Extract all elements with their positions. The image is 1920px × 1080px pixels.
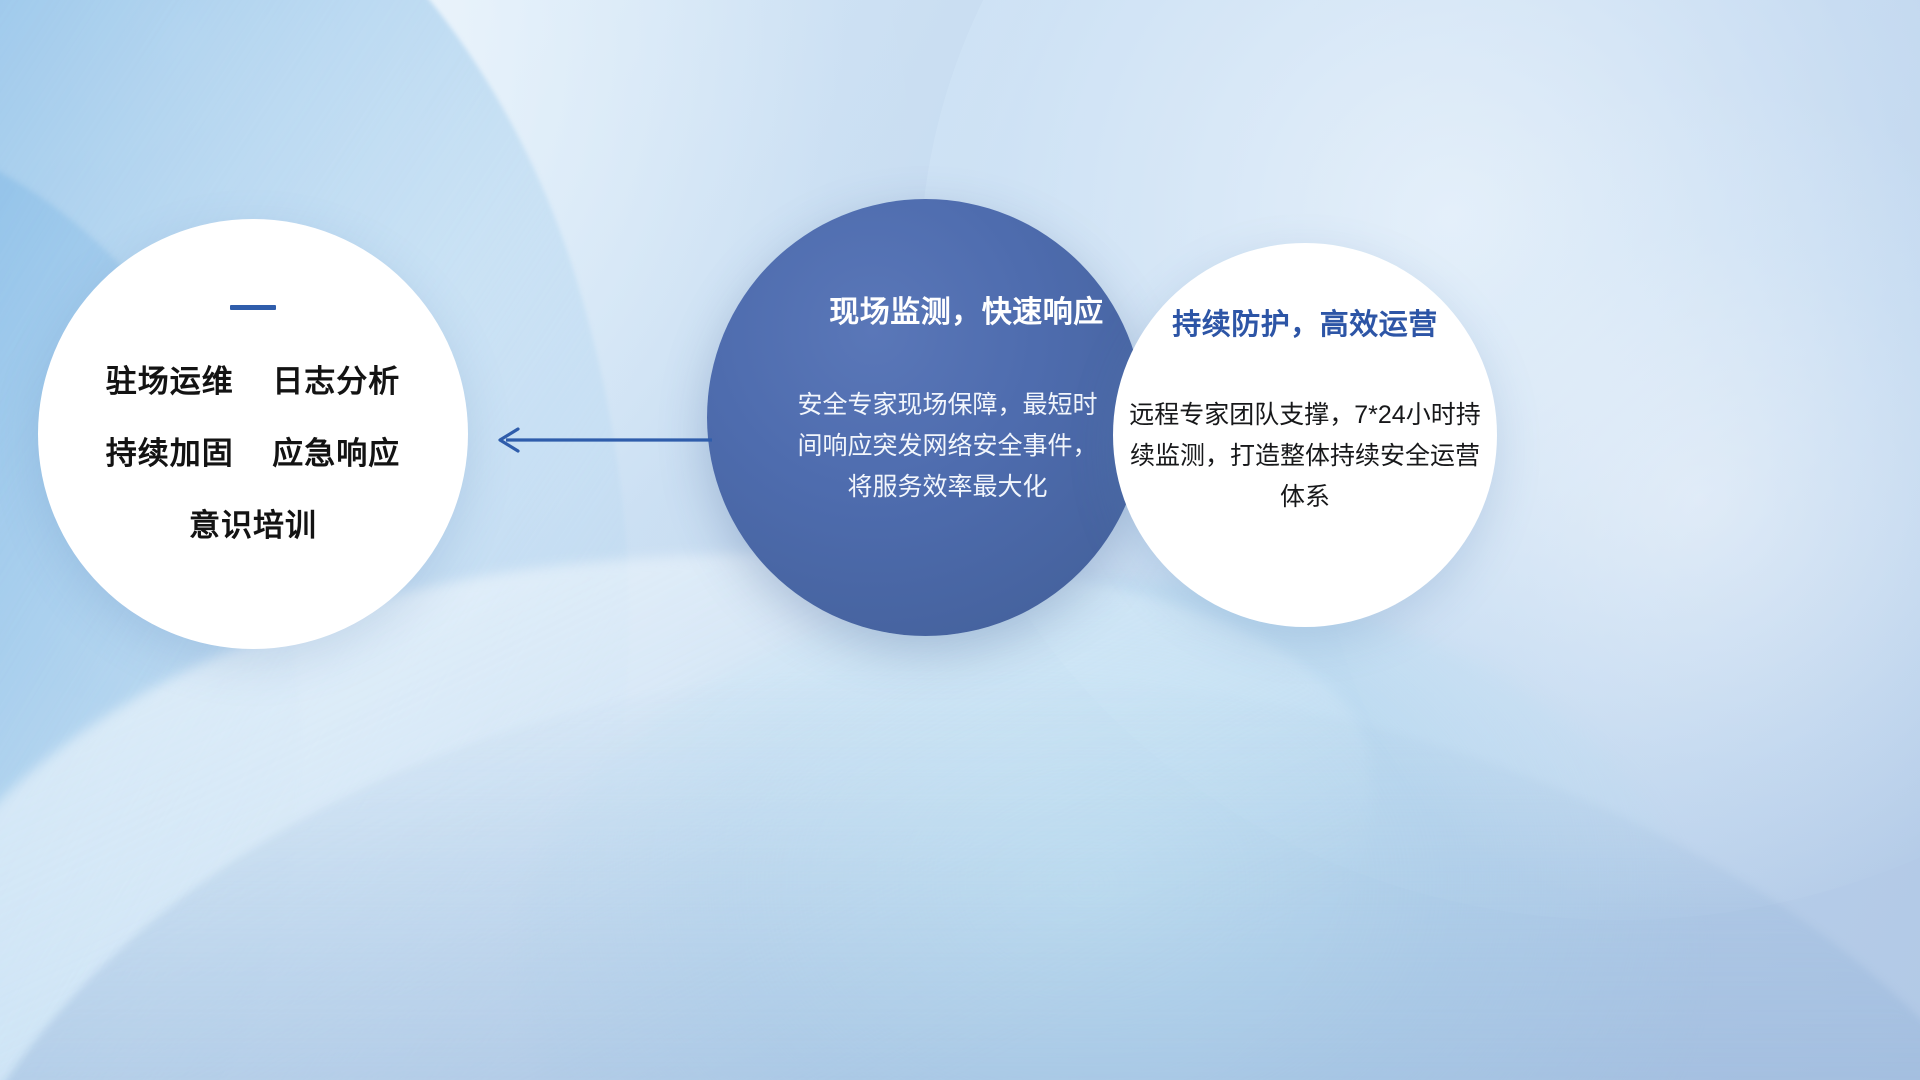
circle-right-title: 持续防护，高效运营 <box>1172 301 1438 343</box>
capability-list: 驻场运维 日志分析 持续加固 应急响应 意识培训 <box>106 356 400 545</box>
circle-right-continuous-protection[interactable]: 持续防护，高效运营 远程专家团队支撑，7*24小时持续监测，打造整体持续安全运营… <box>1113 243 1497 627</box>
circle-middle-body: 安全专家现场保障，最短时间响应突发网络安全事件，将服务效率最大化 <box>798 385 1098 508</box>
capability-line-2: 持续加固 应急响应 <box>106 428 400 473</box>
leftward-arrow <box>488 420 713 460</box>
capability-line-1: 驻场运维 日志分析 <box>106 356 400 401</box>
capability-line-3: 意识培训 <box>189 500 317 545</box>
three-circle-diagram: 驻场运维 日志分析 持续加固 应急响应 意识培训 现场监测，快速响应 安全专家现… <box>0 0 1920 1080</box>
circle-left-capabilities[interactable]: 驻场运维 日志分析 持续加固 应急响应 意识培训 <box>38 219 468 649</box>
divider-dash <box>230 305 276 310</box>
circle-right-body: 远程专家团队支撑，7*24小时持续监测，打造整体持续安全运营体系 <box>1129 395 1481 518</box>
circle-middle-title: 现场监测，快速响应 <box>829 287 1104 331</box>
circle-middle-onsite-monitoring[interactable]: 现场监测，快速响应 安全专家现场保障，最短时间响应突发网络安全事件，将服务效率最… <box>707 199 1144 636</box>
